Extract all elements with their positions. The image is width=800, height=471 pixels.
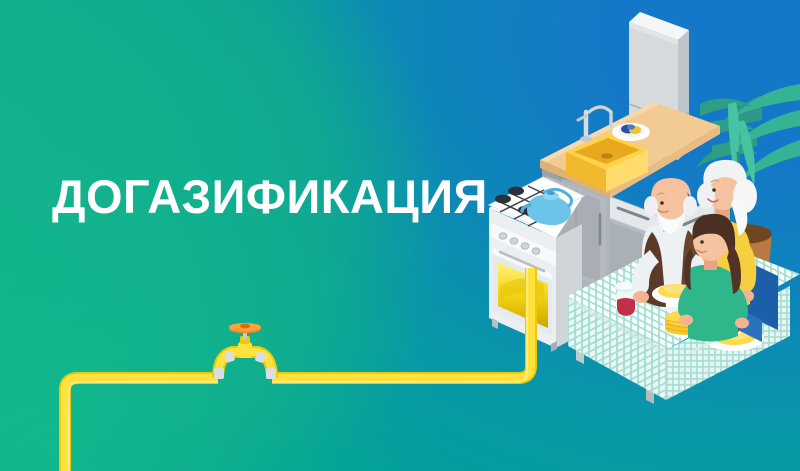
gas-pipe (65, 268, 531, 471)
jam-jar (615, 282, 635, 316)
kitchen-scene (0, 0, 800, 471)
page-title: ДОГАЗИФИКАЦИЯ (52, 173, 488, 220)
gasification-banner: ДОГАЗИФИКАЦИЯ (0, 0, 800, 471)
gas-valve (214, 323, 276, 379)
fruit-plate (612, 123, 650, 141)
